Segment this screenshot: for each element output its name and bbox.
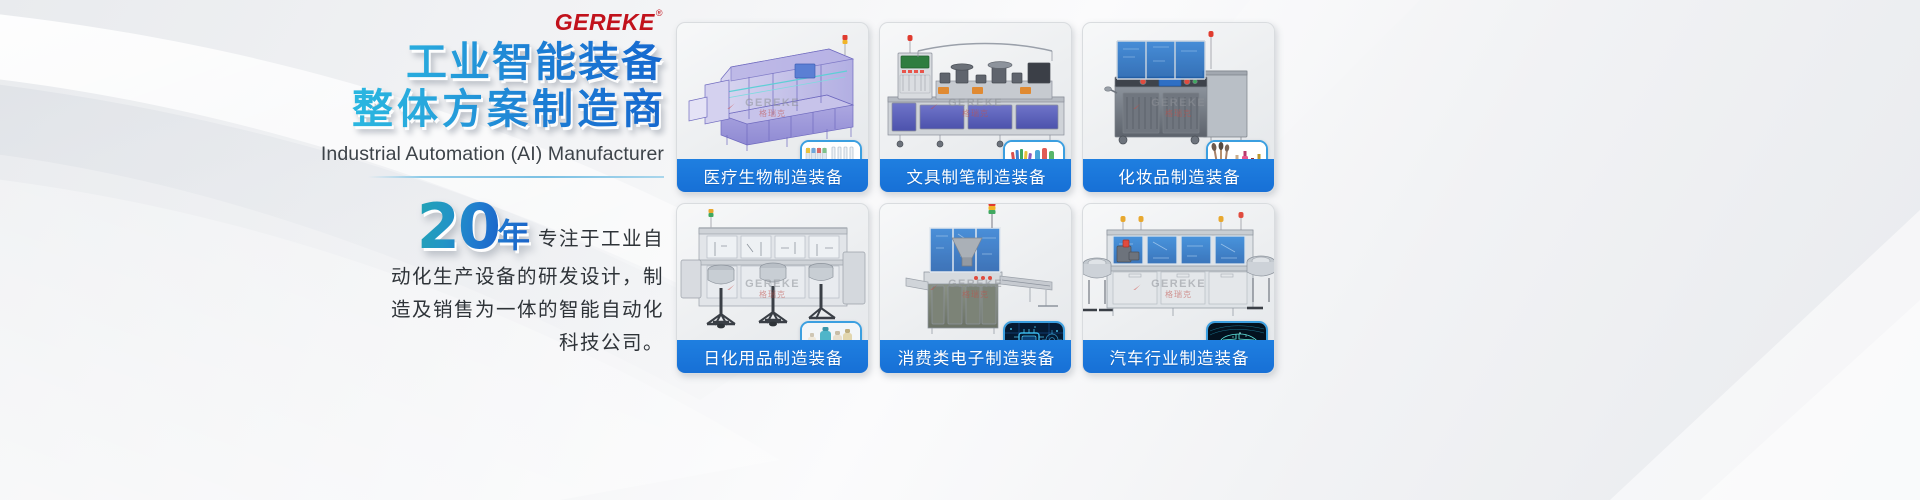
product-card-consumer-electronics[interactable]: GEREKE 格瑞克 (879, 203, 1072, 374)
card-label-bar: 文具制笔制造装备 (880, 159, 1072, 192)
gereke-logo: GEREKE® (555, 9, 662, 36)
years-unit: 年 (497, 218, 530, 254)
card-label-text: 消费类电子制造装备 (898, 345, 1056, 369)
tagline-line-2: 动化生产设备的研发设计，制 (366, 260, 664, 293)
card-label-text: 日化用品制造装备 (704, 345, 844, 369)
product-card-grid: GEREKE 格瑞克 (676, 22, 1275, 374)
tagline-line-3: 造及销售为一体的智能自动化 (366, 293, 664, 326)
years-number: 20 (417, 198, 499, 256)
headline-line-1: 工业智能装备 (352, 40, 664, 85)
years-highlight: 20 年 专注于工业自 (352, 198, 664, 256)
card-label-bar: 日化用品制造装备 (677, 340, 869, 373)
product-card-medical-bio[interactable]: GEREKE 格瑞克 (676, 22, 869, 193)
tagline-paragraph: 动化生产设备的研发设计，制 造及销售为一体的智能自动化 科技公司。 (366, 260, 664, 359)
divider-rule (368, 176, 664, 178)
product-card-cosmetics[interactable]: GEREKE 格瑞克 (1082, 22, 1275, 193)
registered-trademark-icon: ® (656, 8, 663, 18)
product-card-automotive[interactable]: GEREKE 格瑞克 (1082, 203, 1275, 374)
headline-text: 工业智能装备 整体方案制造商 (352, 40, 664, 132)
card-label-bar: 医疗生物制造装备 (677, 159, 869, 192)
card-label-text: 汽车行业制造装备 (1110, 345, 1250, 369)
headline-block: GEREKE® 工业智能装备 整体方案制造商 Industrial Automa… (352, 0, 664, 500)
english-subtitle: Industrial Automation (AI) Manufacturer (321, 143, 664, 166)
product-card-daily-chemical[interactable]: GEREKE 格瑞克 (676, 203, 869, 374)
headline-line-2: 整体方案制造商 (352, 87, 664, 132)
card-label-text: 文具制笔制造装备 (907, 164, 1047, 188)
tagline-line-4: 科技公司。 (366, 326, 664, 359)
card-label-text: 化妆品制造装备 (1118, 164, 1241, 188)
card-label-bar: 消费类电子制造装备 (880, 340, 1072, 373)
tagline-first-line: 专注于工业自 (538, 222, 664, 251)
card-label-text: 医疗生物制造装备 (704, 164, 844, 188)
card-label-bar: 化妆品制造装备 (1083, 159, 1275, 192)
product-card-stationery-pen[interactable]: GEREKE 格瑞克 (879, 22, 1072, 193)
card-label-bar: 汽车行业制造装备 (1083, 340, 1275, 373)
logo-wordmark: GEREKE (555, 9, 655, 35)
promo-banner: GEREKE® 工业智能装备 整体方案制造商 Industrial Automa… (0, 0, 1920, 500)
